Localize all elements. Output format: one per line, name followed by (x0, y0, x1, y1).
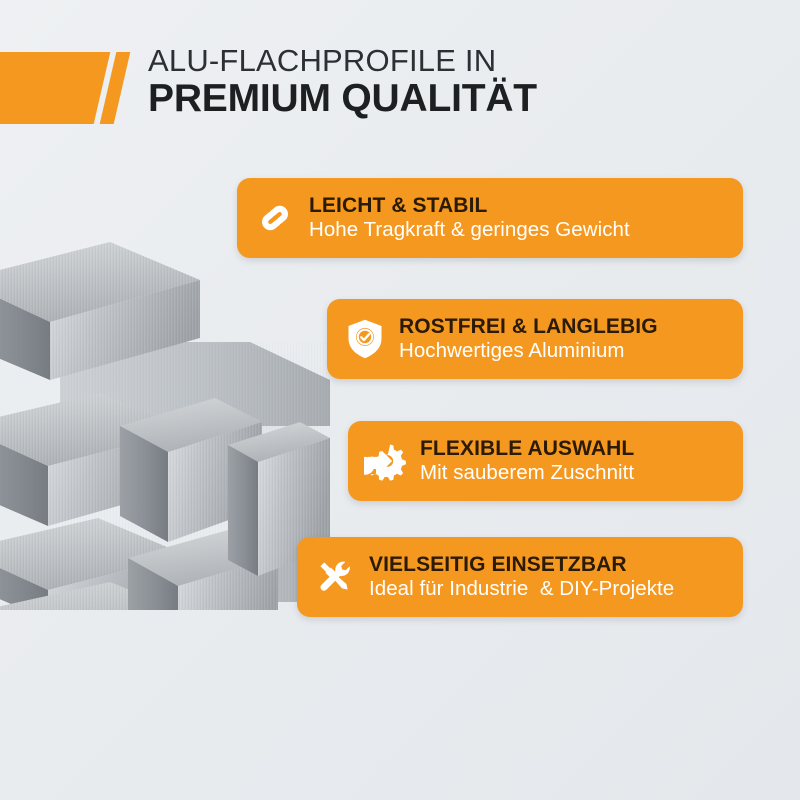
feature-badge-text: FLEXIBLE AUSWAHL Mit sauberem Zuschnitt (420, 437, 634, 486)
page-title: ALU-FLACHPROFILE IN PREMIUM QUALITÄT (148, 44, 768, 121)
page-title-line-1: ALU-FLACHPROFILE IN (148, 44, 768, 77)
feature-badge-text: ROSTFREI & LANGLEBIG Hochwertiges Alumin… (399, 315, 658, 364)
accent-block-large (0, 52, 110, 124)
feature-badge-rostfrei-langlebig[interactable]: ROSTFREI & LANGLEBIG Hochwertiges Alumin… (327, 299, 743, 379)
gear-arrow-icon (362, 437, 410, 485)
feature-badge-flexible-auswahl[interactable]: FLEXIBLE AUSWAHL Mit sauberem Zuschnitt (348, 421, 743, 501)
wrench-screwdriver-icon (311, 553, 359, 601)
feature-badge-subtitle: Hohe Tragkraft & geringes Gewicht (309, 218, 630, 242)
feature-badge-title: FLEXIBLE AUSWAHL (420, 437, 634, 461)
feature-badge-leicht-stabil[interactable]: LEICHT & STABIL Hohe Tragkraft & geringe… (237, 178, 743, 258)
shield-check-icon (341, 315, 389, 363)
feature-badge-subtitle: Hochwertiges Aluminium (399, 339, 658, 363)
feature-badge-text: VIELSEITIG EINSETZBAR Ideal für Industri… (369, 553, 674, 602)
feature-badge-title: VIELSEITIG EINSETZBAR (369, 553, 674, 577)
product-image-aluminium-bars (0, 230, 330, 610)
feature-badge-subtitle: Mit sauberem Zuschnitt (420, 461, 634, 485)
feature-badge-vielseitig-einsetzbar[interactable]: VIELSEITIG EINSETZBAR Ideal für Industri… (297, 537, 743, 617)
feature-badge-subtitle: Ideal für Industrie & DIY-Projekte (369, 577, 674, 601)
poster-canvas: ALU-FLACHPROFILE IN PREMIUM QUALITÄT (0, 0, 800, 800)
page-title-line-2: PREMIUM QUALITÄT (148, 78, 768, 120)
feature-badge-title: LEICHT & STABIL (309, 194, 630, 218)
feature-badge-title: ROSTFREI & LANGLEBIG (399, 315, 658, 339)
header-accent-mark (0, 52, 130, 124)
chain-link-icon (251, 194, 299, 242)
feature-badge-text: LEICHT & STABIL Hohe Tragkraft & geringe… (309, 194, 630, 243)
